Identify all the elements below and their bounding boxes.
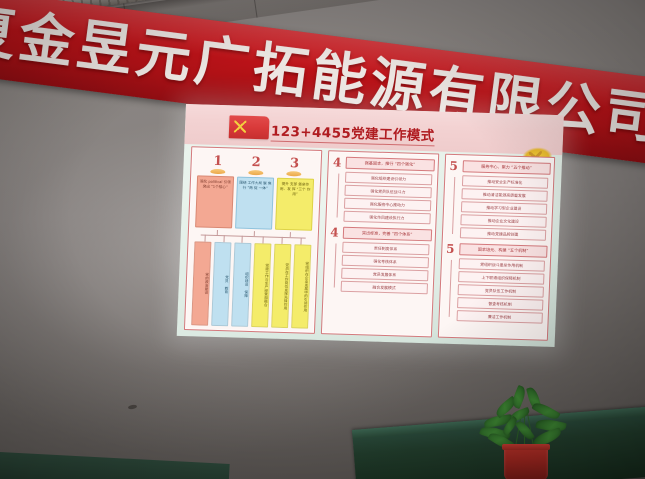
left-top-box-3: 提升 支部 堡垒作 用、发 挥 “三个 作用” (275, 178, 314, 231)
slide-panel-left: 1 2 3 强化 political 引领 突出 “1个核心” 围绕 工作大局 … (184, 146, 322, 334)
list-item: 责任制度体系 (342, 242, 429, 256)
list-item: 党员队伍工作机制 (457, 284, 544, 298)
left-top-box-1: 强化 political 引领 突出 “1个核心” (195, 175, 234, 228)
list-item: 强化组织建设引领力 (345, 172, 432, 186)
mid-section-2: 4 突出标准，完善 “四个体系” 责任制度体系 强化考核体系 党员发展体系 融合… (327, 226, 432, 294)
right-section-2: 5 固本培元、构建 “五个机制” 党组织战斗堡垒作用机制 上下联通组织保障机制 … (442, 243, 548, 324)
left-bar-6: 党组织在企业发展中的引领作用 (291, 244, 312, 328)
left-number-3: 3 (278, 158, 311, 177)
photo-scene: 夏金昱元广拓能源有限公司党员大会 123+4455党建工作模式 1 2 (0, 0, 645, 479)
cpc-flag-icon (229, 115, 270, 139)
list-item: 强化作风建设执行力 (343, 211, 430, 225)
left-panel-vertical-bars: 党的政治建设 党员 教育 组织建设 保障 党建工作与生产经营相融合 党员在工作岗… (188, 241, 314, 329)
right-section-1: 5 服务中心、聚力 “五个推动” 推动安全生产标准化 推动清洁能源高质量发展 推… (445, 160, 551, 241)
right-section-1-head: 5 服务中心、聚力 “五个推动” (448, 160, 551, 175)
nub-decoration-icon (248, 170, 263, 175)
right-section-2-head: 5 固本培元、构建 “五个机制” (445, 243, 548, 258)
left-panel-top-boxes: 强化 political 引领 突出 “1个核心” 围绕 工作大局 聚 焦 行 … (192, 173, 317, 231)
left-bar-1: 党的政治建设 (191, 241, 212, 325)
right-section-1-items: 推动安全生产标准化 推动清洁能源高质量发展 推动学习型企业建设 推动企业文化建设… (445, 175, 550, 241)
list-item: 推动党建品牌创建 (459, 227, 546, 241)
mid-section-2-items: 责任制度体系 强化考核体系 党员发展体系 融合发展模式 (327, 241, 431, 294)
list-item: 廉洁工作机制 (456, 310, 543, 324)
list-item: 推动学习型企业建设 (460, 201, 547, 215)
right-section-2-items: 党组织战斗堡垒作用机制 上下联通组织保障机制 党员队伍工作机制 督查考核机制 廉… (442, 258, 547, 324)
slide-body: 1 2 3 强化 political 引领 突出 “1个核心” 围绕 工作大局 … (184, 146, 555, 341)
mid-section-1-head: 4 强基固本，推行 “四个强化” (332, 156, 435, 171)
list-item: 上下联通组织保障机制 (458, 271, 545, 285)
left-bar-3: 组织建设 保障 (231, 242, 252, 326)
slide-panel-right: 5 服务中心、聚力 “五个推动” 推动安全生产标准化 推动清洁能源高质量发展 推… (437, 154, 555, 341)
left-number-2: 2 (240, 157, 273, 176)
mid-section-2-head: 4 突出标准，完善 “四个体系” (329, 226, 432, 241)
flower-pot (504, 444, 548, 479)
list-item: 党组织战斗堡垒作用机制 (458, 258, 545, 272)
list-item: 督查考核机制 (457, 297, 544, 311)
slide-title: 123+4455党建工作模式 (271, 120, 435, 147)
list-item: 推动清洁能源高质量发展 (461, 188, 548, 202)
left-top-box-2: 围绕 工作大局 聚 焦 行 “两 促 一体” (235, 177, 274, 230)
leaf (510, 385, 528, 409)
left-bar-5: 党员在工作岗位发挥先锋作用 (271, 244, 292, 328)
projection-screen: 123+4455党建工作模式 1 2 3 (177, 104, 564, 347)
list-item: 党员发展体系 (341, 268, 428, 282)
left-bar-2: 党员 教育 (211, 242, 232, 326)
list-item: 强化党员队伍战斗力 (344, 185, 431, 199)
potted-plant (470, 386, 580, 479)
left-number-1: 1 (201, 155, 234, 174)
nub-decoration-icon (210, 169, 225, 174)
list-item: 强化服务中心推动力 (344, 198, 431, 212)
left-bar-4: 党建工作与生产经营相融合 (251, 243, 272, 327)
nub-decoration-icon (287, 171, 302, 176)
list-item: 融合发展模式 (341, 281, 428, 295)
list-item: 强化考核体系 (342, 255, 429, 269)
left-panel-number-row: 1 2 3 (194, 151, 318, 177)
mid-section-1: 4 强基固本，推行 “四个强化” 强化组织建设引领力 强化党员队伍战斗力 强化服… (329, 156, 434, 224)
mid-section-1-items: 强化组织建设引领力 强化党员队伍战斗力 强化服务中心推动力 强化作风建设执行力 (329, 171, 433, 224)
list-item: 推动安全生产标准化 (461, 175, 548, 189)
list-item: 推动企业文化建设 (460, 214, 547, 228)
slide-panel-mid: 4 强基固本，推行 “四个强化” 强化组织建设引领力 强化党员队伍战斗力 强化服… (321, 150, 439, 337)
